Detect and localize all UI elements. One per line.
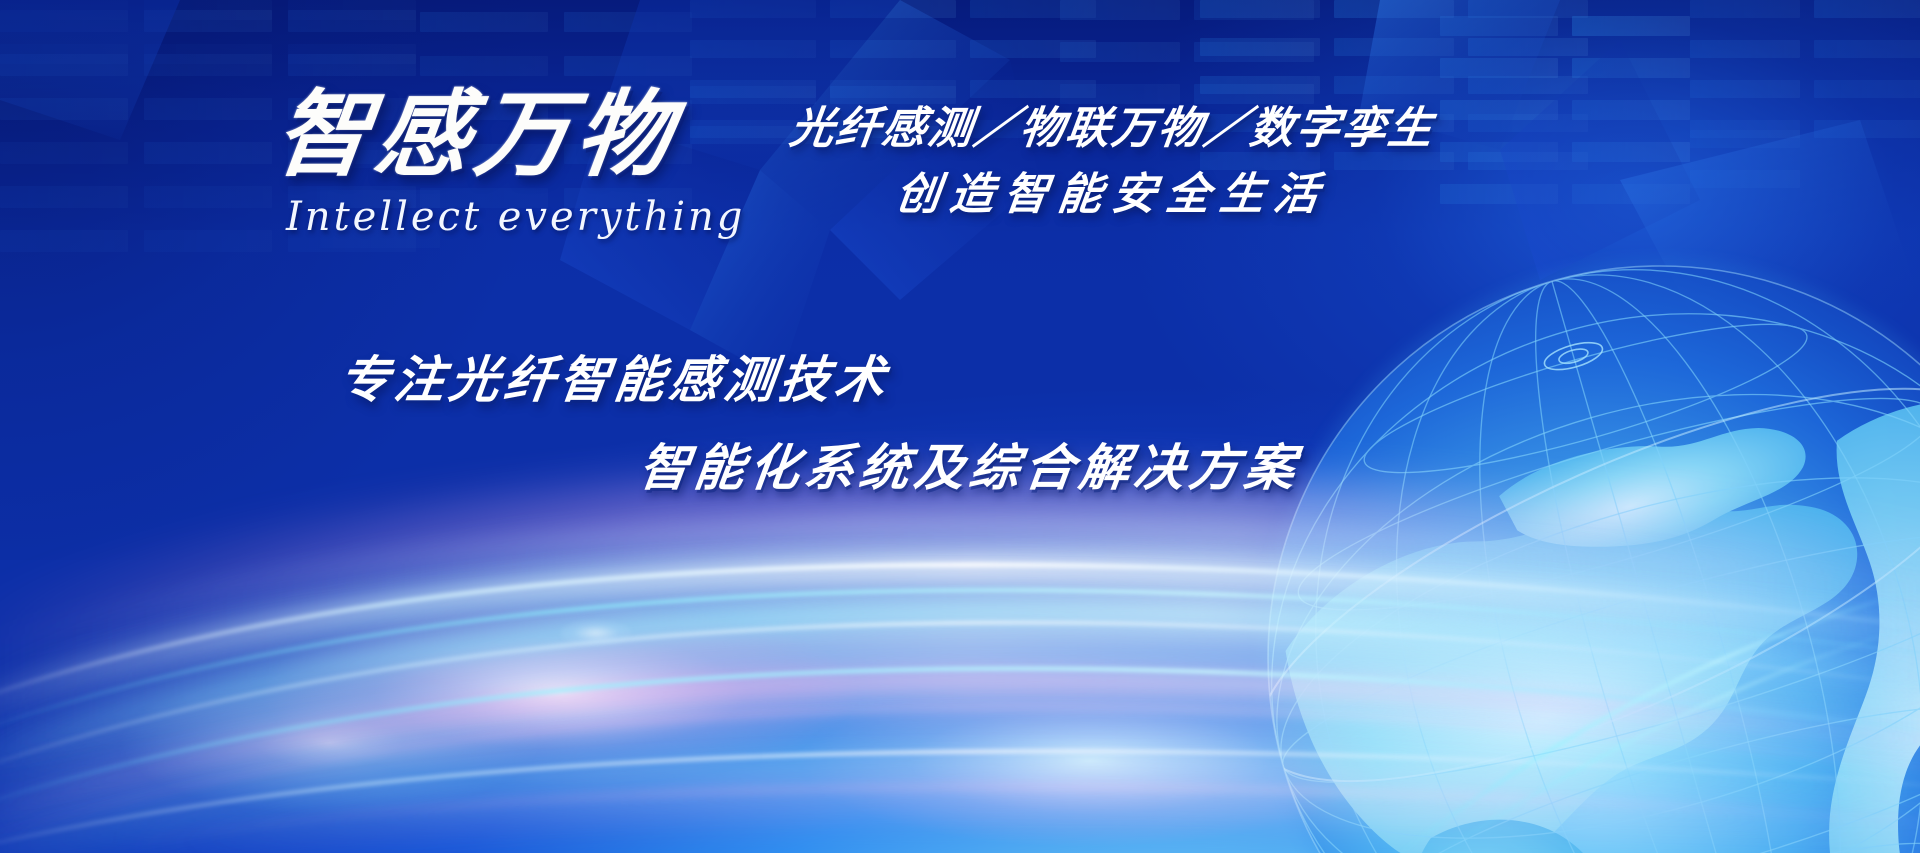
subheadline-line-2: 智能化系统及综合解决方案 [636, 428, 1305, 500]
page-subtitle-english: Intellect everything [286, 194, 745, 240]
tagline-line-2: 创造智能安全生活 [786, 162, 1438, 228]
tagline-line-1: 光纤感测／物联万物／数字孪生 [786, 96, 1438, 162]
subheadline-line-1: 专注光纤智能感测技术 [336, 340, 1305, 412]
headline-block: 智感万物 Intellect everything [276, 88, 745, 240]
marketing-banner: 智感万物 Intellect everything 光纤感测／物联万物／数字孪生… [0, 0, 1920, 853]
lens-flare-icon [560, 620, 632, 646]
subheadline-block: 专注光纤智能感测技术 智能化系统及综合解决方案 [340, 340, 1300, 500]
page-title: 智感万物 [270, 88, 751, 184]
tagline-block: 光纤感测／物联万物／数字孪生 创造智能安全生活 [790, 96, 1434, 228]
